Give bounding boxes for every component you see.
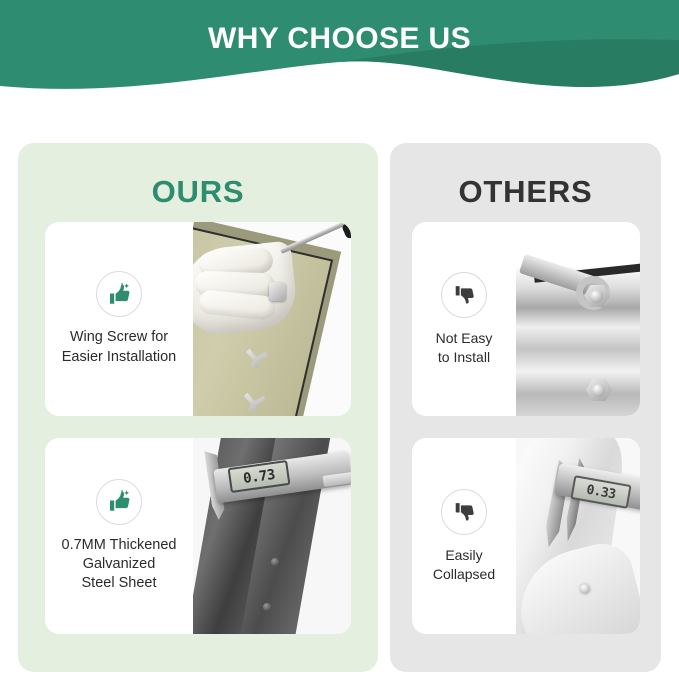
card-text-side: Easily Collapsed: [412, 438, 516, 634]
caliper-measuring-dark-steel-sheet-photo: 0.73: [193, 438, 351, 634]
card-text-side: Wing Screw for Easier Installation: [45, 222, 193, 416]
card-label: Easily Collapsed: [433, 546, 495, 583]
gloved-hand-installing-wing-screw-photo: [193, 222, 351, 416]
ours-column-panel: OURS Wing Screw for Easier Installation: [18, 143, 378, 672]
card-text-side: 0.7MM Thickened Galvanized Steel Sheet: [45, 438, 193, 634]
others-feature-card-1: Not Easy to Install: [412, 222, 640, 416]
page-title: WHY CHOOSE US: [0, 22, 679, 56]
others-feature-card-2: Easily Collapsed 0.33: [412, 438, 640, 634]
thumbs-up-icon: [96, 271, 142, 317]
card-label: Wing Screw for Easier Installation: [62, 328, 176, 367]
card-label: Not Easy to Install: [436, 329, 493, 366]
card-label: 0.7MM Thickened Galvanized Steel Sheet: [62, 536, 177, 594]
others-column-panel: OTHERS Not Easy to Install: [390, 143, 661, 672]
caliper-reading: 0.73: [242, 466, 276, 486]
ours-column-heading: OURS: [18, 174, 378, 210]
ours-feature-card-1: Wing Screw for Easier Installation: [45, 222, 351, 416]
card-text-side: Not Easy to Install: [412, 222, 516, 416]
ours-feature-card-2: 0.7MM Thickened Galvanized Steel Sheet 0…: [45, 438, 351, 634]
infographic-page: WHY CHOOSE US OURS Wing Screw for Easier…: [0, 0, 679, 679]
thumbs-down-icon: [441, 489, 487, 535]
caliper-reading: 0.33: [585, 482, 616, 502]
caliper-measuring-thin-white-sheet-photo: 0.33: [516, 438, 640, 634]
thumbs-down-icon: [441, 272, 487, 318]
header-banner: WHY CHOOSE US: [0, 0, 679, 105]
wrench-and-bolts-on-chrome-photo: [516, 222, 640, 416]
thumbs-up-icon: [96, 479, 142, 525]
others-column-heading: OTHERS: [390, 174, 661, 210]
